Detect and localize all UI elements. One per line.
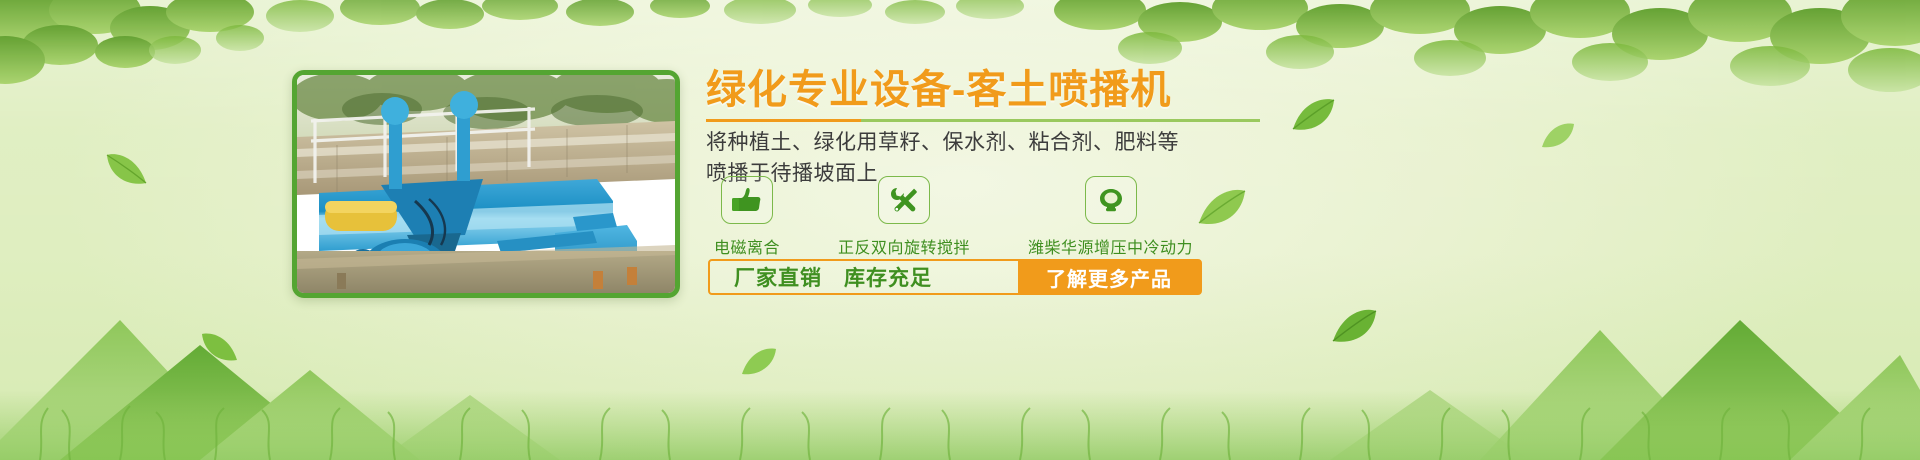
promo-banner: 绿化专业设备-客土喷播机 将种植土、绿化用草籽、保水剂、粘合剂、肥料等 喷播于待…: [0, 0, 1920, 460]
leaf-decoration-icon: [1540, 120, 1576, 150]
grass-foreground: [0, 350, 1920, 460]
tools-wrench-screwdriver-icon: [878, 176, 930, 224]
leaf-decoration-icon: [105, 150, 149, 188]
feature-item-electromagnetic-clutch[interactable]: 电磁离合: [714, 176, 780, 258]
feature-list: 电磁离合 正反双向旋转搅拌 潍柴华源增压中冷动力: [706, 176, 1266, 258]
feature-item-weichai-power[interactable]: 潍柴华源增压中冷动力: [1028, 176, 1193, 258]
leaf-decoration-icon: [1330, 305, 1378, 347]
product-photo-image: [297, 75, 675, 293]
cta-slogan-1: 厂家直销: [734, 262, 822, 292]
feature-item-bidirectional-mixing[interactable]: 正反双向旋转搅拌: [838, 176, 970, 258]
cta-slogan-2: 库存充足: [844, 262, 932, 292]
feature-label: 正反双向旋转搅拌: [838, 234, 970, 258]
cta-slogans: 厂家直销 库存充足: [710, 261, 1018, 293]
banner-title: 绿化专业设备-客土喷播机: [706, 68, 1266, 113]
title-divider: [706, 119, 1260, 122]
learn-more-button[interactable]: 了解更多产品: [1018, 261, 1200, 293]
feature-label: 电磁离合: [714, 234, 780, 258]
cta-bar: 厂家直销 库存充足 了解更多产品: [708, 259, 1202, 295]
feature-label: 潍柴华源增压中冷动力: [1028, 234, 1193, 258]
product-photo: [292, 70, 680, 298]
leaf-decoration-icon: [1290, 95, 1336, 135]
leaf-decoration-icon: [740, 345, 778, 377]
thumbs-up-icon: [721, 176, 773, 224]
engine-power-icon: [1085, 176, 1137, 224]
leaf-decoration-icon: [200, 330, 240, 364]
banner-subtitle-line1: 将种植土、绿化用草籽、保水剂、粘合剂、肥料等: [706, 129, 1266, 158]
headline-block: 绿化专业设备-客土喷播机 将种植土、绿化用草籽、保水剂、粘合剂、肥料等 喷播于待…: [706, 68, 1266, 189]
